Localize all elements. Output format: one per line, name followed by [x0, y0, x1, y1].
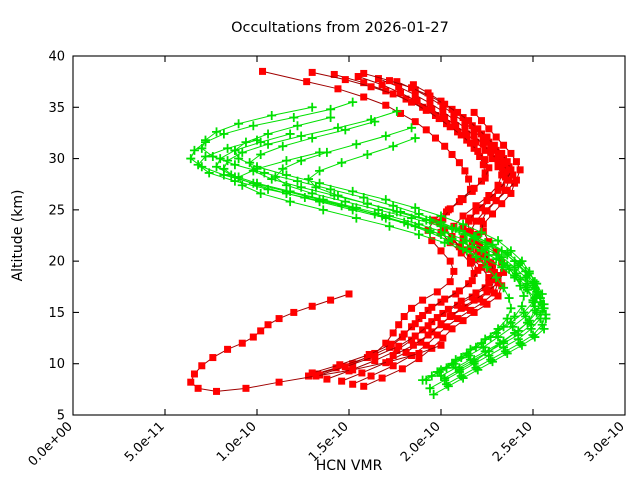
- data-point-marker: [517, 302, 526, 311]
- data-point-marker: [242, 385, 249, 392]
- data-point-marker: [308, 134, 317, 143]
- data-point-marker: [472, 207, 479, 214]
- data-point-marker: [286, 197, 295, 206]
- data-point-marker: [386, 358, 393, 365]
- data-point-marker: [410, 342, 417, 349]
- data-point-marker: [234, 119, 243, 128]
- data-point-marker: [447, 313, 454, 320]
- data-point-marker: [191, 370, 198, 377]
- data-point-marker: [286, 129, 295, 138]
- data-point-marker: [385, 222, 394, 231]
- data-point-marker: [411, 134, 420, 143]
- data-point-marker: [249, 121, 258, 130]
- data-point-marker: [485, 125, 492, 132]
- data-point-marker: [386, 77, 393, 84]
- data-point-marker: [276, 315, 283, 322]
- x-tick-label: 3.0e-10: [582, 419, 628, 465]
- figure-canvas: Occultations from 2026-01-27 0.0e+005.0e…: [0, 0, 640, 480]
- data-point-marker: [445, 306, 452, 313]
- data-series-layer: [186, 68, 550, 399]
- data-point-marker: [293, 121, 302, 130]
- data-point-marker: [257, 327, 264, 334]
- data-point-marker: [308, 103, 317, 112]
- data-point-marker: [212, 162, 221, 171]
- data-point-marker: [265, 321, 272, 328]
- data-point-marker: [379, 81, 386, 88]
- data-point-marker: [348, 98, 357, 107]
- data-point-marker: [319, 205, 328, 214]
- data-point-marker: [381, 132, 390, 141]
- data-point-marker: [423, 126, 430, 133]
- data-point-marker: [412, 333, 419, 340]
- data-point-marker: [408, 99, 415, 106]
- data-point-marker: [467, 140, 474, 147]
- data-point-marker: [441, 143, 448, 150]
- data-point-marker: [513, 177, 520, 184]
- data-point-marker: [436, 115, 443, 122]
- y-tick-label: 15: [48, 306, 65, 321]
- data-point-marker: [198, 362, 205, 369]
- data-point-marker: [412, 118, 419, 125]
- data-point-marker: [368, 373, 375, 380]
- data-point-marker: [447, 123, 454, 130]
- data-point-marker: [454, 109, 461, 116]
- data-point-marker: [360, 94, 367, 101]
- series-path: [309, 74, 486, 376]
- data-point-marker: [195, 385, 202, 392]
- data-point-marker: [517, 166, 524, 173]
- data-point-marker: [360, 70, 367, 77]
- data-point-marker: [201, 136, 210, 145]
- y-tick-label: 40: [48, 50, 65, 65]
- data-point-marker: [493, 134, 500, 141]
- data-point-marker: [390, 329, 397, 336]
- data-point-marker: [474, 125, 481, 132]
- data-point-marker: [390, 352, 397, 359]
- data-point-marker: [482, 156, 489, 163]
- data-point-marker: [447, 278, 454, 285]
- data-point-marker: [478, 218, 485, 225]
- data-point-marker: [264, 129, 273, 138]
- y-axis-label: Altitude (km): [10, 190, 26, 282]
- data-point-marker: [471, 185, 478, 192]
- x-tick-label: 0.0e+00: [26, 419, 76, 469]
- data-point-marker: [388, 341, 395, 348]
- data-point-marker: [352, 214, 361, 223]
- data-point-marker: [474, 148, 481, 155]
- data-point-marker: [432, 135, 439, 142]
- data-point-marker: [366, 351, 373, 358]
- data-point-marker: [368, 83, 375, 90]
- data-point-marker: [472, 289, 479, 296]
- x-axis-label: HCN VMR: [316, 458, 383, 474]
- data-point-marker: [504, 177, 511, 184]
- data-point-marker: [438, 321, 445, 328]
- data-point-marker: [278, 142, 287, 151]
- y-tick-label: 5: [57, 409, 65, 424]
- data-point-marker: [494, 236, 503, 245]
- data-point-marker: [506, 304, 515, 313]
- data-point-marker: [259, 68, 266, 75]
- data-point-marker: [223, 156, 232, 165]
- data-point-marker: [458, 305, 465, 312]
- data-point-marker: [245, 158, 254, 167]
- data-point-marker: [425, 331, 432, 338]
- data-point-marker: [484, 197, 491, 204]
- data-point-marker: [327, 297, 334, 304]
- data-point-marker: [495, 293, 502, 300]
- data-point-marker: [186, 154, 195, 163]
- data-point-marker: [401, 313, 408, 320]
- data-point-marker: [447, 258, 454, 265]
- data-point-marker: [484, 134, 491, 141]
- y-tick-label: 30: [48, 152, 65, 167]
- data-point-marker: [458, 131, 465, 138]
- data-point-marker: [250, 334, 257, 341]
- data-point-marker: [504, 187, 511, 194]
- data-point-marker: [485, 279, 492, 286]
- data-point-marker: [482, 175, 489, 182]
- data-point-marker: [212, 127, 221, 136]
- data-point-marker: [256, 150, 265, 159]
- x-tick-label: 2.5e-10: [490, 419, 536, 465]
- data-point-marker: [484, 301, 491, 308]
- x-tick-label: 1.0e-10: [214, 419, 260, 465]
- data-point-marker: [209, 354, 216, 361]
- data-point-marker: [419, 297, 426, 304]
- data-point-marker: [458, 195, 465, 202]
- data-point-marker: [289, 113, 298, 122]
- data-point-marker: [456, 159, 463, 166]
- data-point-marker: [414, 230, 423, 239]
- data-point-marker: [256, 189, 265, 198]
- data-point-marker: [239, 340, 246, 347]
- data-point-marker: [484, 288, 491, 295]
- data-point-marker: [425, 322, 432, 329]
- data-point-marker: [334, 85, 341, 92]
- data-point-marker: [346, 290, 353, 297]
- x-tick-label: 2.0e-10: [398, 419, 444, 465]
- data-point-marker: [408, 305, 415, 312]
- data-point-marker: [224, 346, 231, 353]
- data-point-marker: [456, 287, 463, 294]
- data-point-marker: [397, 89, 404, 96]
- data-point-marker: [223, 144, 232, 153]
- data-point-marker: [363, 150, 372, 159]
- data-point-marker: [485, 164, 492, 171]
- data-point-marker: [441, 101, 448, 108]
- x-tick-label: 5.0e-11: [122, 419, 168, 465]
- data-point-marker: [382, 102, 389, 109]
- data-point-marker: [471, 297, 478, 304]
- data-point-marker: [507, 166, 514, 173]
- data-point-marker: [471, 309, 478, 316]
- data-point-marker: [213, 388, 220, 395]
- data-point-marker: [395, 343, 402, 350]
- data-point-marker: [458, 298, 465, 305]
- data-point-marker: [495, 187, 502, 194]
- data-point-marker: [434, 288, 441, 295]
- data-point-marker: [478, 117, 485, 124]
- data-point-marker: [465, 117, 472, 124]
- plot-title-group: Occultations from 2026-01-27: [231, 20, 449, 36]
- data-point-marker: [395, 321, 402, 328]
- data-point-marker: [498, 150, 505, 157]
- data-point-marker: [312, 373, 319, 380]
- data-point-marker: [484, 207, 491, 214]
- data-point-marker: [415, 350, 422, 357]
- data-point-marker: [326, 113, 335, 122]
- data-point-marker: [337, 158, 346, 167]
- data-point-marker: [338, 378, 345, 385]
- data-point-marker: [408, 84, 415, 91]
- data-point-marker: [423, 107, 430, 114]
- data-point-marker: [465, 176, 472, 183]
- data-point-marker: [297, 132, 306, 141]
- data-point-marker: [500, 142, 507, 149]
- data-point-marker: [412, 320, 419, 327]
- data-point-marker: [349, 366, 356, 373]
- data-point-marker: [267, 111, 276, 120]
- data-point-marker: [315, 166, 324, 175]
- data-point-marker: [491, 142, 498, 149]
- data-point-marker: [282, 156, 291, 165]
- data-point-marker: [309, 69, 316, 76]
- data-point-marker: [303, 78, 310, 85]
- data-point-marker: [439, 335, 446, 342]
- data-point-marker: [428, 304, 435, 311]
- data-point-marker: [434, 314, 441, 321]
- data-point-marker: [399, 365, 406, 372]
- data-point-marker: [349, 381, 356, 388]
- data-point-marker: [513, 158, 520, 165]
- data-point-marker: [390, 90, 397, 97]
- axis-labels-layer: 0.0e+005.0e-111.0e-101.5e-102.0e-102.5e-…: [10, 50, 628, 475]
- series-red-lowC: [187, 290, 444, 394]
- data-point-marker: [187, 379, 194, 386]
- occultation-plot: Occultations from 2026-01-27 0.0e+005.0e…: [0, 0, 640, 480]
- data-point-marker: [401, 330, 408, 337]
- data-point-marker: [216, 154, 225, 163]
- data-point-marker: [461, 167, 468, 174]
- data-point-marker: [426, 93, 433, 100]
- data-point-marker: [342, 76, 349, 83]
- data-point-marker: [505, 294, 514, 303]
- y-tick-label: 20: [48, 255, 65, 270]
- data-point-marker: [309, 303, 316, 310]
- data-point-marker: [507, 150, 514, 157]
- data-point-marker: [352, 140, 361, 149]
- data-point-marker: [447, 205, 454, 212]
- data-point-marker: [358, 369, 365, 376]
- data-point-marker: [276, 379, 283, 386]
- y-tick-label: 25: [48, 203, 65, 218]
- data-point-marker: [389, 142, 398, 151]
- data-point-marker: [449, 151, 456, 158]
- data-point-marker: [419, 312, 426, 319]
- data-point-marker: [493, 197, 500, 204]
- data-point-marker: [379, 375, 386, 382]
- data-point-marker: [449, 325, 456, 332]
- data-point-marker: [205, 168, 214, 177]
- data-point-marker: [474, 267, 481, 274]
- data-point-marker: [326, 105, 335, 114]
- data-point-marker: [450, 268, 457, 275]
- data-point-marker: [190, 146, 199, 155]
- data-point-marker: [438, 342, 445, 349]
- page-title: Occultations from 2026-01-27: [231, 20, 449, 36]
- data-point-marker: [360, 383, 367, 390]
- data-point-marker: [469, 277, 476, 284]
- data-point-marker: [441, 296, 448, 303]
- y-tick-label: 35: [48, 101, 65, 116]
- data-point-marker: [323, 376, 330, 383]
- y-tick-label: 10: [48, 357, 65, 372]
- data-point-marker: [460, 317, 467, 324]
- data-point-marker: [471, 109, 478, 116]
- data-point-marker: [290, 309, 297, 316]
- data-point-marker: [336, 361, 343, 368]
- data-point-marker: [438, 247, 445, 254]
- data-point-marker: [504, 158, 511, 165]
